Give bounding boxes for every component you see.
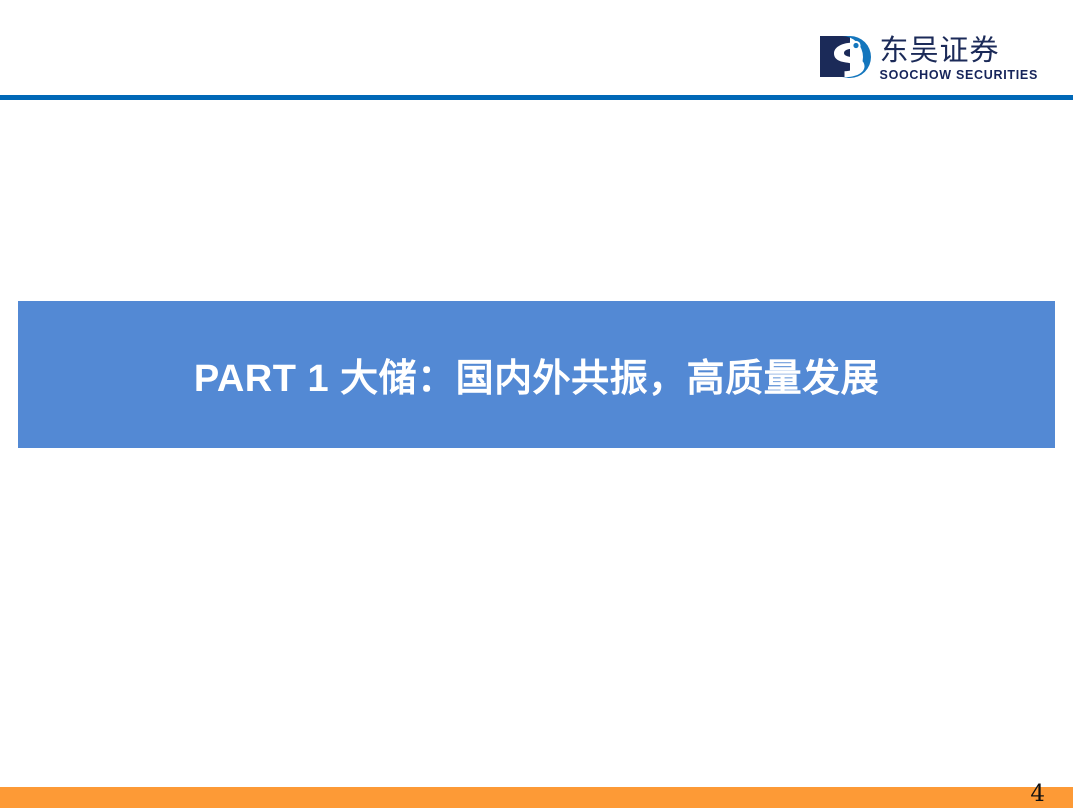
logo-english-name: SOOCHOW SECURITIES <box>880 68 1038 83</box>
section-title-banner: PART 1 大储：国内外共振，高质量发展 <box>18 301 1055 448</box>
slide-header: 东吴证券 SOOCHOW SECURITIES <box>0 0 1073 98</box>
header-divider-rule <box>0 95 1073 100</box>
soochow-securities-logo-mark-icon <box>820 34 872 80</box>
presentation-slide: 东吴证券 SOOCHOW SECURITIES PART 1 大储：国内外共振，… <box>0 0 1073 808</box>
logo-wordmark: 东吴证券 SOOCHOW SECURITIES <box>880 34 1038 83</box>
page-number: 4 <box>1030 783 1045 806</box>
company-logo: 东吴证券 SOOCHOW SECURITIES <box>820 34 1038 83</box>
footer-accent-bar <box>0 787 1073 808</box>
logo-chinese-name: 东吴证券 <box>880 35 1038 66</box>
section-title-text: PART 1 大储：国内外共振，高质量发展 <box>194 347 879 402</box>
